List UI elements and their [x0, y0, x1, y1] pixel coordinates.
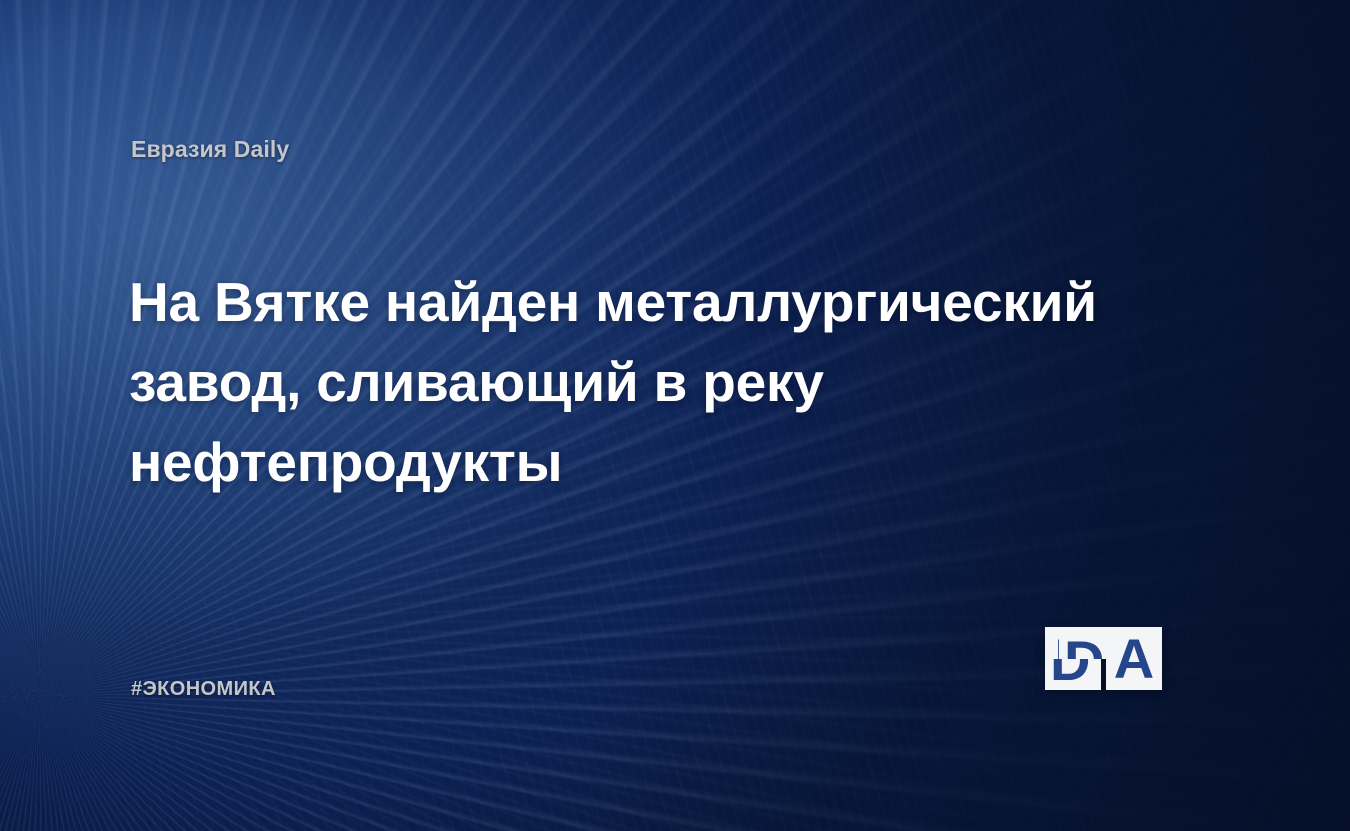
ead-logo[interactable]: E A D D [1045, 627, 1223, 690]
headline-line-1: На Вятке найден металлургический [129, 262, 1139, 342]
logo-letter-d-top-half: D [1059, 627, 1115, 659]
category-tag[interactable]: #ЭКОНОМИКА [131, 678, 276, 701]
brand-label: Евразия Daily [131, 136, 289, 163]
card-content: Евразия Daily На Вятке найден металлурги… [0, 0, 1350, 831]
headline-line-2: завод, сливающий в реку [129, 342, 1139, 422]
logo-letter-d-upper: D [1064, 629, 1104, 659]
logo-letter-a: A [1114, 631, 1154, 687]
logo-letter-d-lower: D [1050, 659, 1090, 691]
logo-letter-d-bottom-half: D [1045, 659, 1101, 691]
article-card: Евразия Daily На Вятке найден металлурги… [0, 0, 1350, 831]
headline-line-3: нефтепродукты [129, 422, 1139, 502]
page-title: На Вятке найден металлургический завод, … [129, 262, 1139, 502]
logo-tile-d: D D [1167, 627, 1223, 690]
